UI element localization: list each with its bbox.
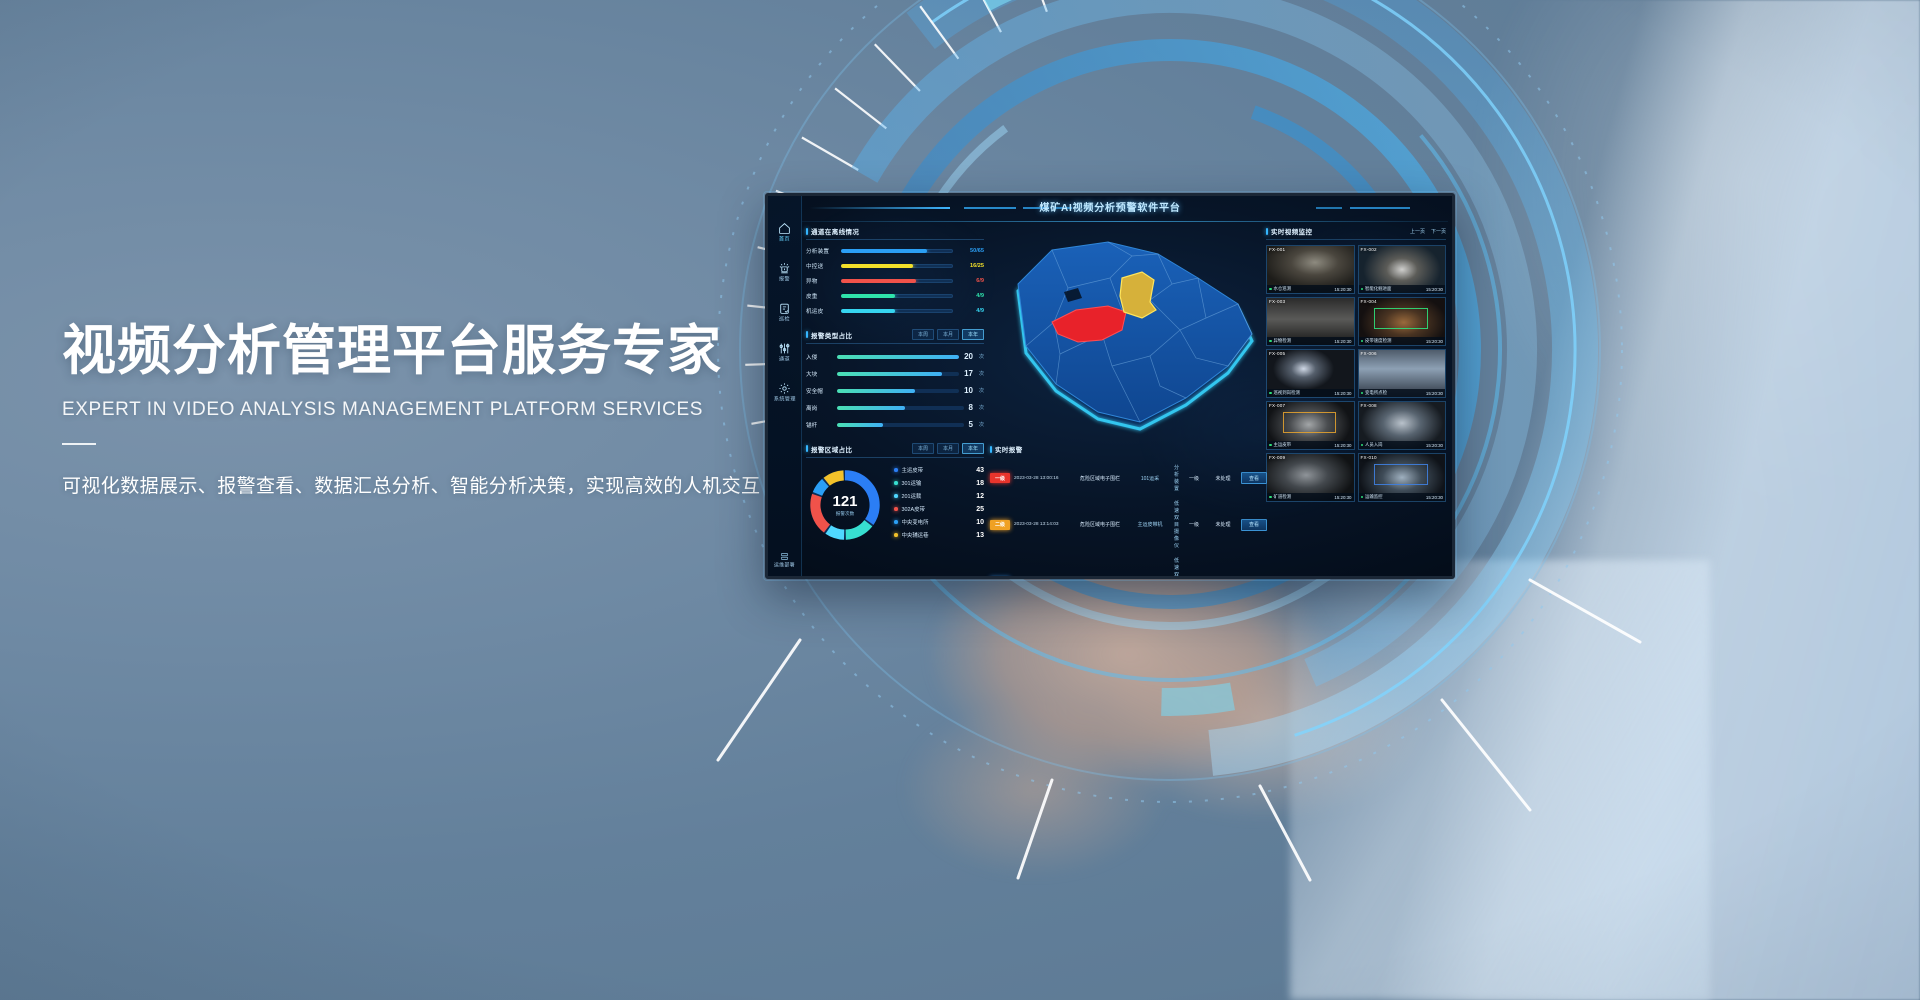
page-subtitle: EXPERT IN VIDEO ANALYSIS MANAGEMENT PLAT… xyxy=(62,399,782,421)
camera-timestamp: 15:20:30 xyxy=(1334,391,1351,396)
camera-name-text: 矿道检测 xyxy=(1274,494,1292,500)
view-button[interactable]: 查看 xyxy=(1241,472,1267,484)
time-range-tab[interactable]: 本年 xyxy=(962,329,984,340)
alarm-type-unit: 次 xyxy=(979,370,984,377)
camera-name: 智能化掘进面 xyxy=(1361,286,1392,292)
time-range-tab[interactable]: 本周 xyxy=(912,443,934,454)
donut-center: 121 报警次数 xyxy=(806,466,884,544)
camera-name-text: 主运皮带 xyxy=(1274,442,1292,448)
legend-value: 25 xyxy=(976,506,984,513)
dashboard-header: 煤矿AI视频分析预警软件平台 xyxy=(768,196,1452,222)
sidebar-item-label: 首页 xyxy=(779,235,790,243)
time-range-tab[interactable]: 本年 xyxy=(962,443,984,454)
video-cell[interactable]: FX-006变电所点检15:20:30 xyxy=(1358,349,1447,398)
camera-id: FX-001 xyxy=(1269,247,1285,252)
status-dot xyxy=(1269,496,1272,499)
status-dot xyxy=(1269,392,1272,395)
region-map[interactable] xyxy=(990,226,1260,441)
legend-value: 13 xyxy=(976,532,984,539)
alarm-device: 低速双目摄像仪 xyxy=(1174,500,1179,549)
view-button[interactable]: 查看 xyxy=(1241,519,1267,531)
monitor-frame: 煤矿AI视频分析预警软件平台 首页 报警 xyxy=(765,193,1455,579)
alarm-status: 未处理 xyxy=(1209,521,1237,528)
alarm-type-count: 17 xyxy=(964,369,973,378)
alarm-type-unit: 次 xyxy=(979,421,984,428)
legend-value: 10 xyxy=(976,519,984,526)
alarm-grade: 一级 xyxy=(1183,521,1205,528)
sidebar-item-system[interactable]: 系统管理 xyxy=(768,372,801,412)
status-dot xyxy=(1361,288,1364,291)
legend-color-dot xyxy=(894,468,898,472)
legend-item: 中央变电所10 xyxy=(894,518,984,526)
channel-value: 4/9 xyxy=(958,293,984,299)
home-icon xyxy=(778,222,791,235)
alarm-type-bar-track xyxy=(837,406,964,410)
video-cell[interactable]: FX-003异物检测15:20:30 xyxy=(1266,297,1355,346)
channel-status-panel: 通道在离线情况 分析装置50/65中控送16/25异物6/9皮重4/9机运皮4/… xyxy=(806,226,984,315)
camera-timestamp: 15:20:30 xyxy=(1334,443,1351,448)
video-footer: 水仓巡测15:20:30 xyxy=(1267,285,1354,293)
camera-name-text: 异物检测 xyxy=(1274,338,1292,344)
camera-timestamp: 15:20:30 xyxy=(1334,287,1351,292)
camera-id: FX-003 xyxy=(1269,299,1285,304)
channel-bar-fill xyxy=(841,249,927,253)
video-cell[interactable]: FX-007主运皮带15:20:30 xyxy=(1266,401,1355,450)
alarm-type-row: 大块17次 xyxy=(806,369,984,378)
channel-row: 皮重4/9 xyxy=(806,292,984,300)
page-description: 可视化数据展示、报警查看、数据汇总分析、智能分析决策，实现高效的人机交互 xyxy=(62,471,782,498)
map-region-yellow[interactable] xyxy=(1120,272,1156,318)
legend-color-dot xyxy=(894,494,898,498)
camera-name: 主运皮带 xyxy=(1269,442,1291,448)
channel-bar-track xyxy=(841,294,953,298)
alarm-type-count: 20 xyxy=(964,352,973,361)
view-button[interactable]: 查看 xyxy=(1241,576,1267,577)
channel-bar-fill xyxy=(841,264,913,268)
server-icon xyxy=(780,552,789,561)
alarm-type-unit: 次 xyxy=(979,387,984,394)
legend-item: 中央辅运巷13 xyxy=(894,531,984,539)
middle-column: 实时报警 一级2023-03-28 13:00:16危险区域电子围栏101运采分… xyxy=(990,226,1260,570)
video-panel-header: 实时视频监控 上一页 下一页 xyxy=(1266,226,1446,240)
alarm-type-unit: 次 xyxy=(979,353,984,360)
legend-item: 201运裁12 xyxy=(894,492,984,500)
camera-timestamp: 15:20:30 xyxy=(1426,287,1443,292)
gear-icon xyxy=(778,382,791,395)
camera-timestamp: 15:20:30 xyxy=(1426,391,1443,396)
camera-id: FX-006 xyxy=(1361,351,1377,356)
video-pagination: 上一页 下一页 xyxy=(1410,228,1446,235)
sidebar-item-label: 报警 xyxy=(779,275,790,283)
camera-id: FX-008 xyxy=(1361,403,1377,408)
alarm-type-label: 离岗 xyxy=(806,404,832,412)
legend-value: 12 xyxy=(976,493,984,500)
video-footer: 人员入岗15:20:30 xyxy=(1359,441,1446,449)
camera-name-text: 人员入岗 xyxy=(1365,442,1383,448)
sidebar-item-label: 巡检 xyxy=(779,315,790,323)
legend-color-dot xyxy=(894,481,898,485)
channel-label: 异物 xyxy=(806,277,836,285)
legend-color-dot xyxy=(894,533,898,537)
right-column: 实时视频监控 上一页 下一页 FX-001水仓巡测15:20:30FX-002智… xyxy=(1266,226,1446,570)
donut-chart: 121 报警次数 xyxy=(806,466,884,544)
camera-name-text: 运输监控 xyxy=(1365,494,1383,500)
video-cell[interactable]: FX-005巡视到岗检测15:20:30 xyxy=(1266,349,1355,398)
sidebar-item-inspection[interactable]: 巡检 xyxy=(768,292,801,332)
status-dot xyxy=(1269,444,1272,447)
map-base xyxy=(1018,242,1252,422)
status-dot xyxy=(1361,340,1364,343)
channel-bar-fill xyxy=(841,309,895,313)
alarm-type-row: 入侵20次 xyxy=(806,352,984,361)
alarm-type: 危险区域电子围栏 xyxy=(1074,475,1126,482)
donut-caption: 报警次数 xyxy=(836,511,854,517)
alarm-type-label: 入侵 xyxy=(806,353,832,361)
alarm-type-label: 大块 xyxy=(806,370,832,378)
video-footer: 矿道检测15:20:30 xyxy=(1267,493,1354,501)
map-svg xyxy=(990,226,1260,441)
video-grid: FX-001水仓巡测15:20:30FX-002智能化掘进面15:20:30FX… xyxy=(1266,245,1446,502)
channel-bar-track xyxy=(841,279,953,283)
video-footer: 智能化掘进面15:20:30 xyxy=(1359,285,1446,293)
legend-value: 43 xyxy=(976,467,984,474)
header-dash-4 xyxy=(1350,207,1410,209)
alarm-type-row: 安全帽10次 xyxy=(806,386,984,395)
channel-bar-track xyxy=(841,309,953,313)
divider xyxy=(62,443,96,445)
alarm-grade: 一级 xyxy=(1183,475,1205,482)
page-title: 视频分析管理平台服务专家 xyxy=(62,320,782,383)
camera-name: 异物检测 xyxy=(1269,338,1291,344)
video-footer: 皮带速度检测15:20:30 xyxy=(1359,337,1446,345)
realtime-alarm-panel: 实时报警 一级2023-03-28 13:00:16危险区域电子围栏101运采分… xyxy=(990,444,1260,570)
channel-row: 异物6/9 xyxy=(806,277,984,285)
legend-color-dot xyxy=(894,507,898,511)
table-row: 二级2023-03-28 13:14:03危险区域电子围栏主运皮带机低速双目摄像… xyxy=(990,499,1260,550)
alarm-type-bar-fill xyxy=(837,355,959,359)
video-footer: 主运皮带15:20:30 xyxy=(1267,441,1354,449)
sidebar-item-label: 系统管理 xyxy=(774,395,796,403)
time-range-tab[interactable]: 本月 xyxy=(937,443,959,454)
status-dot xyxy=(1269,340,1272,343)
alarm-type-bar-fill xyxy=(837,389,915,393)
sliders-icon xyxy=(778,342,791,355)
video-footer: 变电所点检15:20:30 xyxy=(1359,389,1446,397)
alarm-type-bar-fill xyxy=(837,372,942,376)
channel-label: 中控送 xyxy=(806,262,836,270)
sidebar-item-channel[interactable]: 通道 xyxy=(768,332,801,372)
alarm-type-rows: 入侵20次大块17次安全帽10次离岗8次锚杆5次 xyxy=(806,352,984,429)
channel-bar-fill xyxy=(841,279,916,283)
channel-value: 6/9 xyxy=(958,278,984,284)
channel-label: 机运皮 xyxy=(806,307,836,315)
camera-name-text: 智能化掘进面 xyxy=(1365,286,1391,292)
camera-timestamp: 15:20:30 xyxy=(1426,495,1443,500)
camera-id: FX-007 xyxy=(1269,403,1285,408)
channel-bar-track xyxy=(841,249,953,253)
camera-id: FX-002 xyxy=(1361,247,1377,252)
camera-name: 矿道检测 xyxy=(1269,494,1291,500)
channel-value: 50/65 xyxy=(958,248,984,254)
video-cell[interactable]: FX-004皮带速度检测15:20:30 xyxy=(1358,297,1447,346)
panel-header: 报警区域占比 本周本月本年 xyxy=(806,443,984,458)
donut-chart-block: 121 报警次数 主运皮带43301运输18201运裁12302A皮带25中央变… xyxy=(806,466,984,544)
time-range-tab[interactable]: 本月 xyxy=(937,329,959,340)
video-cell[interactable]: FX-002智能化掘进面15:20:30 xyxy=(1358,245,1447,294)
camera-id: FX-004 xyxy=(1361,299,1377,304)
camera-timestamp: 15:20:30 xyxy=(1334,495,1351,500)
legend-item: 302A皮带25 xyxy=(894,505,984,513)
legend-item: 主运皮带43 xyxy=(894,466,984,474)
alarm-type-bar-track xyxy=(837,372,959,376)
alarm-type-bar-track xyxy=(837,389,959,393)
channel-bar-fill xyxy=(841,294,895,298)
channel-rows: 分析装置50/65中控送16/25异物6/9皮重4/9机运皮4/9 xyxy=(806,247,984,315)
channel-value: 16/25 xyxy=(958,263,984,269)
channel-row: 分析装置50/65 xyxy=(806,247,984,255)
time-range-tab[interactable]: 本周 xyxy=(912,329,934,340)
legend-value: 18 xyxy=(976,480,984,487)
camera-name: 皮带速度检测 xyxy=(1361,338,1392,344)
video-cell[interactable]: FX-009矿道检测15:20:30 xyxy=(1266,453,1355,502)
camera-name: 变电所点检 xyxy=(1361,390,1387,396)
clipboard-check-icon xyxy=(778,302,791,315)
alarm-table: 一级2023-03-28 13:00:16危险区域电子围栏101运采分析装置一级… xyxy=(990,463,1260,576)
hero-block: 视频分析管理平台服务专家 EXPERT IN VIDEO ANALYSIS MA… xyxy=(62,320,782,498)
alarm-location: 101运采 xyxy=(1130,475,1170,482)
legend-label: 中央变电所 xyxy=(902,518,973,526)
time-range-tabs: 本周本月本年 xyxy=(912,329,984,340)
next-page-button[interactable]: 下一页 xyxy=(1431,228,1446,235)
camera-name: 人员入岗 xyxy=(1361,442,1383,448)
donut-legend: 主运皮带43301运输18201运裁12302A皮带25中央变电所10中央辅运巷… xyxy=(894,466,984,544)
table-row: 三级2023-03-28 14:13:21安全帽检测入井口低速双目摄像仪三级未处… xyxy=(990,556,1260,576)
sidebar-item-label: 通道 xyxy=(779,355,790,363)
alarm-device: 分析装置 xyxy=(1174,464,1179,492)
table-row: 一级2023-03-28 13:00:16危险区域电子围栏101运采分析装置一级… xyxy=(990,463,1260,493)
status-dot xyxy=(1361,444,1364,447)
legend-item: 301运输18 xyxy=(894,479,984,487)
camera-name-text: 巡视到岗检测 xyxy=(1274,390,1300,396)
sidebar-item-home[interactable]: 首页 xyxy=(768,212,801,252)
header-dash-5 xyxy=(1316,207,1342,209)
alarm-level-badge: 一级 xyxy=(990,473,1010,483)
alarm-type: 危险区域电子围栏 xyxy=(1074,521,1126,528)
time-range-tabs: 本周本月本年 xyxy=(912,443,984,454)
panel-header: 报警类型占比 本周本月本年 xyxy=(806,329,984,344)
camera-id: FX-005 xyxy=(1269,351,1285,356)
channel-label: 皮重 xyxy=(806,292,836,300)
panel-title: 报警类型占比 xyxy=(806,330,852,340)
alarm-status: 未处理 xyxy=(1209,475,1237,482)
video-footer: 运输监控15:20:30 xyxy=(1359,493,1446,501)
camera-name-text: 变电所点检 xyxy=(1365,390,1387,396)
alarm-type-panel: 报警类型占比 本周本月本年 入侵20次大块17次安全帽10次离岗8次锚杆5次 xyxy=(806,329,984,429)
camera-name: 巡视到岗检测 xyxy=(1269,390,1300,396)
video-cell[interactable]: FX-001水仓巡测15:20:30 xyxy=(1266,245,1355,294)
prev-page-button[interactable]: 上一页 xyxy=(1410,228,1425,235)
detection-overlay xyxy=(1374,308,1428,329)
detection-overlay xyxy=(1374,464,1428,485)
detection-overlay xyxy=(1283,412,1337,433)
video-cell[interactable]: FX-008人员入岗15:20:30 xyxy=(1358,401,1447,450)
alarm-type-count: 10 xyxy=(964,386,973,395)
camera-name-text: 皮带速度检测 xyxy=(1365,338,1391,344)
panel-title: 报警区域占比 xyxy=(806,444,852,454)
status-dot xyxy=(1361,496,1364,499)
panel-header: 通道在离线情况 xyxy=(806,226,984,240)
status-dot xyxy=(1361,392,1364,395)
camera-name-text: 水仓巡测 xyxy=(1274,286,1292,292)
channel-label: 分析装置 xyxy=(806,247,836,255)
alarm-lamp-icon xyxy=(778,262,791,275)
camera-timestamp: 15:20:30 xyxy=(1426,339,1443,344)
alarm-type-count: 5 xyxy=(969,420,973,429)
legend-label: 201运裁 xyxy=(902,492,973,500)
channel-value: 4/9 xyxy=(958,308,984,314)
alarm-type-bar-track xyxy=(837,423,964,427)
status-dot xyxy=(1269,288,1272,291)
panel-title: 实时视频监控 xyxy=(1266,226,1312,236)
video-cell[interactable]: FX-010运输监控15:20:30 xyxy=(1358,453,1447,502)
camera-id: FX-009 xyxy=(1269,455,1285,460)
donut-total-value: 121 xyxy=(832,494,857,509)
channel-row: 机运皮4/9 xyxy=(806,307,984,315)
alarm-type-row: 离岗8次 xyxy=(806,403,984,412)
video-footer: 巡视到岗检测15:20:30 xyxy=(1267,389,1354,397)
camera-name: 水仓巡测 xyxy=(1269,286,1291,292)
alarm-type-label: 安全帽 xyxy=(806,387,832,395)
alarm-device: 低速双目摄像仪 xyxy=(1174,557,1179,576)
legend-label: 主运皮带 xyxy=(902,466,973,474)
sidebar: 首页 报警 巡检 通道 xyxy=(768,196,802,576)
camera-name: 运输监控 xyxy=(1361,494,1383,500)
legend-label: 中央辅运巷 xyxy=(902,531,973,539)
camera-timestamp: 15:20:30 xyxy=(1334,339,1351,344)
alarm-location: 主运皮带机 xyxy=(1130,521,1170,528)
channel-bar-track xyxy=(841,264,953,268)
alarm-time: 2023-03-28 13:14:03 xyxy=(1014,522,1070,527)
alarm-time: 2023-03-28 13:00:16 xyxy=(1014,476,1070,481)
legend-label: 301运输 xyxy=(902,479,973,487)
alarm-type-unit: 次 xyxy=(979,404,984,411)
alarm-area-panel: 报警区域占比 本周本月本年 121 报警次数 主运皮带43301运输18201运… xyxy=(806,443,984,544)
left-column: 通道在离线情况 分析装置50/65中控送16/25异物6/9皮重4/9机运皮4/… xyxy=(806,226,984,570)
alarm-type-label: 锚杆 xyxy=(806,421,832,429)
sidebar-item-label: 运维部署 xyxy=(774,561,795,569)
camera-id: FX-010 xyxy=(1361,455,1377,460)
alarm-type-bar-track xyxy=(837,355,959,359)
video-footer: 异物检测15:20:30 xyxy=(1267,337,1354,345)
legend-label: 302A皮带 xyxy=(902,505,973,513)
panel-header: 实时报警 xyxy=(990,444,1260,457)
header-underline xyxy=(802,221,1448,222)
panel-title: 实时报警 xyxy=(990,444,1023,454)
panel-title: 通道在离线情况 xyxy=(806,226,859,236)
sidebar-item-alarm[interactable]: 报警 xyxy=(768,252,801,292)
dashboard-screen: 煤矿AI视频分析预警软件平台 首页 报警 xyxy=(768,196,1452,576)
sidebar-item-ops[interactable]: 运维部署 xyxy=(768,552,801,568)
legend-color-dot xyxy=(894,520,898,524)
alarm-type-row: 锚杆5次 xyxy=(806,420,984,429)
camera-timestamp: 15:20:30 xyxy=(1426,443,1443,448)
alarm-level-badge: 二级 xyxy=(990,520,1010,530)
alarm-type-bar-fill xyxy=(837,423,883,427)
channel-row: 中控送16/25 xyxy=(806,262,984,270)
alarm-type-count: 8 xyxy=(969,403,973,412)
alarm-type-bar-fill xyxy=(837,406,905,410)
